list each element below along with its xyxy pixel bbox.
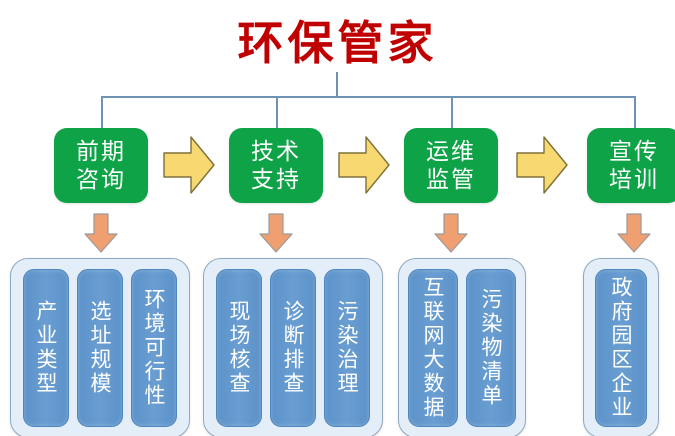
stage-box-4[interactable]: 宣传 培训 (587, 128, 675, 203)
down-arrow-icon-2 (257, 212, 295, 254)
stage-label-line1: 运维 (426, 138, 476, 166)
chip-label: 选址规模 (88, 300, 112, 396)
connector-drop-2 (276, 96, 278, 128)
chip-pollutant-list[interactable]: 污染物清单 (466, 269, 516, 427)
down-arrow-icon-4 (615, 212, 653, 254)
chip-diagnostic-survey[interactable]: 诊断排查 (270, 269, 316, 427)
stage-label-line2: 培训 (609, 166, 659, 194)
right-arrow-icon-2 (336, 133, 392, 197)
down-arrow-icon-3 (432, 212, 470, 254)
stage-label-line2: 咨询 (76, 166, 126, 194)
chip-label: 诊断排查 (281, 300, 305, 396)
group-container-4: 政府园区企业 (583, 258, 659, 436)
connector-drop-4 (634, 96, 636, 128)
chip-pollution-control[interactable]: 污染治理 (324, 269, 370, 427)
stage-label-line2: 支持 (251, 166, 301, 194)
group-container-2: 现场核查 诊断排查 污染治理 (203, 258, 383, 436)
chip-industry-type[interactable]: 产业类型 (23, 269, 69, 427)
group-container-3: 互联网大数据 污染物清单 (398, 258, 526, 436)
right-arrow-icon-3 (514, 133, 570, 197)
stage-box-1[interactable]: 前期 咨询 (54, 128, 148, 203)
page-title: 环保管家 (0, 16, 675, 70)
stage-label-line1: 宣传 (609, 138, 659, 166)
stage-label-line1: 前期 (76, 138, 126, 166)
diagram-canvas: 环保管家 前期 咨询 技术 支持 运维 监管 宣传 培训 (0, 0, 675, 436)
chip-site-scale[interactable]: 选址规模 (77, 269, 123, 427)
stage-box-2[interactable]: 技术 支持 (229, 128, 323, 203)
chip-label: 环境可行性 (142, 288, 166, 408)
connector-trunk (336, 72, 338, 97)
connector-bus (101, 96, 636, 98)
chip-onsite-check[interactable]: 现场核查 (216, 269, 262, 427)
chip-internet-bigdata[interactable]: 互联网大数据 (408, 269, 458, 427)
stage-label-line1: 技术 (251, 138, 301, 166)
group-container-1: 产业类型 选址规模 环境可行性 (10, 258, 190, 436)
chip-label: 产业类型 (34, 300, 58, 396)
chip-env-feasibility[interactable]: 环境可行性 (131, 269, 177, 427)
chip-gov-park-enterprise[interactable]: 政府园区企业 (595, 269, 647, 427)
stage-label-line2: 监管 (426, 166, 476, 194)
down-arrow-icon-1 (82, 212, 120, 254)
chip-label: 政府园区企业 (609, 276, 633, 420)
chip-label: 现场核查 (227, 300, 251, 396)
chip-label: 污染物清单 (479, 288, 503, 408)
connector-drop-1 (101, 96, 103, 128)
stage-box-3[interactable]: 运维 监管 (404, 128, 498, 203)
connector-drop-3 (451, 96, 453, 128)
chip-label: 互联网大数据 (421, 276, 445, 420)
right-arrow-icon-1 (161, 133, 217, 197)
chip-label: 污染治理 (335, 300, 359, 396)
